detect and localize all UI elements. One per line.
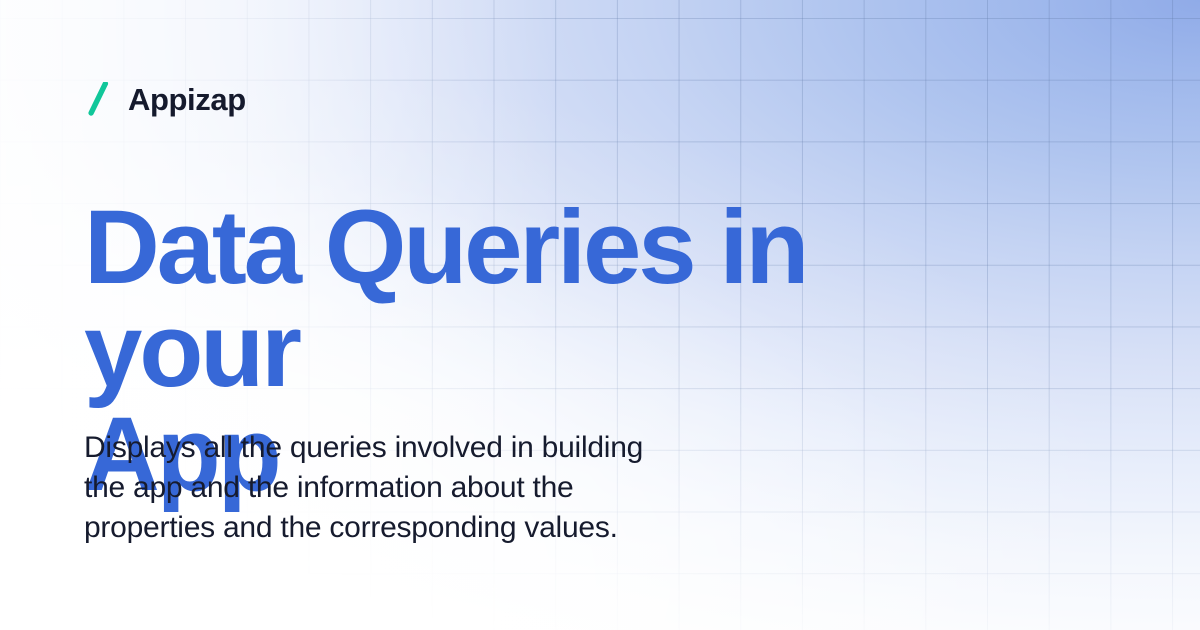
hero-content: Appizap Data Queries in your App Display… (0, 0, 1200, 630)
brand-name: Appizap (128, 84, 246, 115)
brand-lockup[interactable]: Appizap (84, 82, 246, 116)
hero-banner: Appizap Data Queries in your App Display… (0, 0, 1200, 630)
slash-icon (84, 82, 110, 116)
page-subtitle: Displays all the queries involved in bui… (84, 428, 844, 548)
